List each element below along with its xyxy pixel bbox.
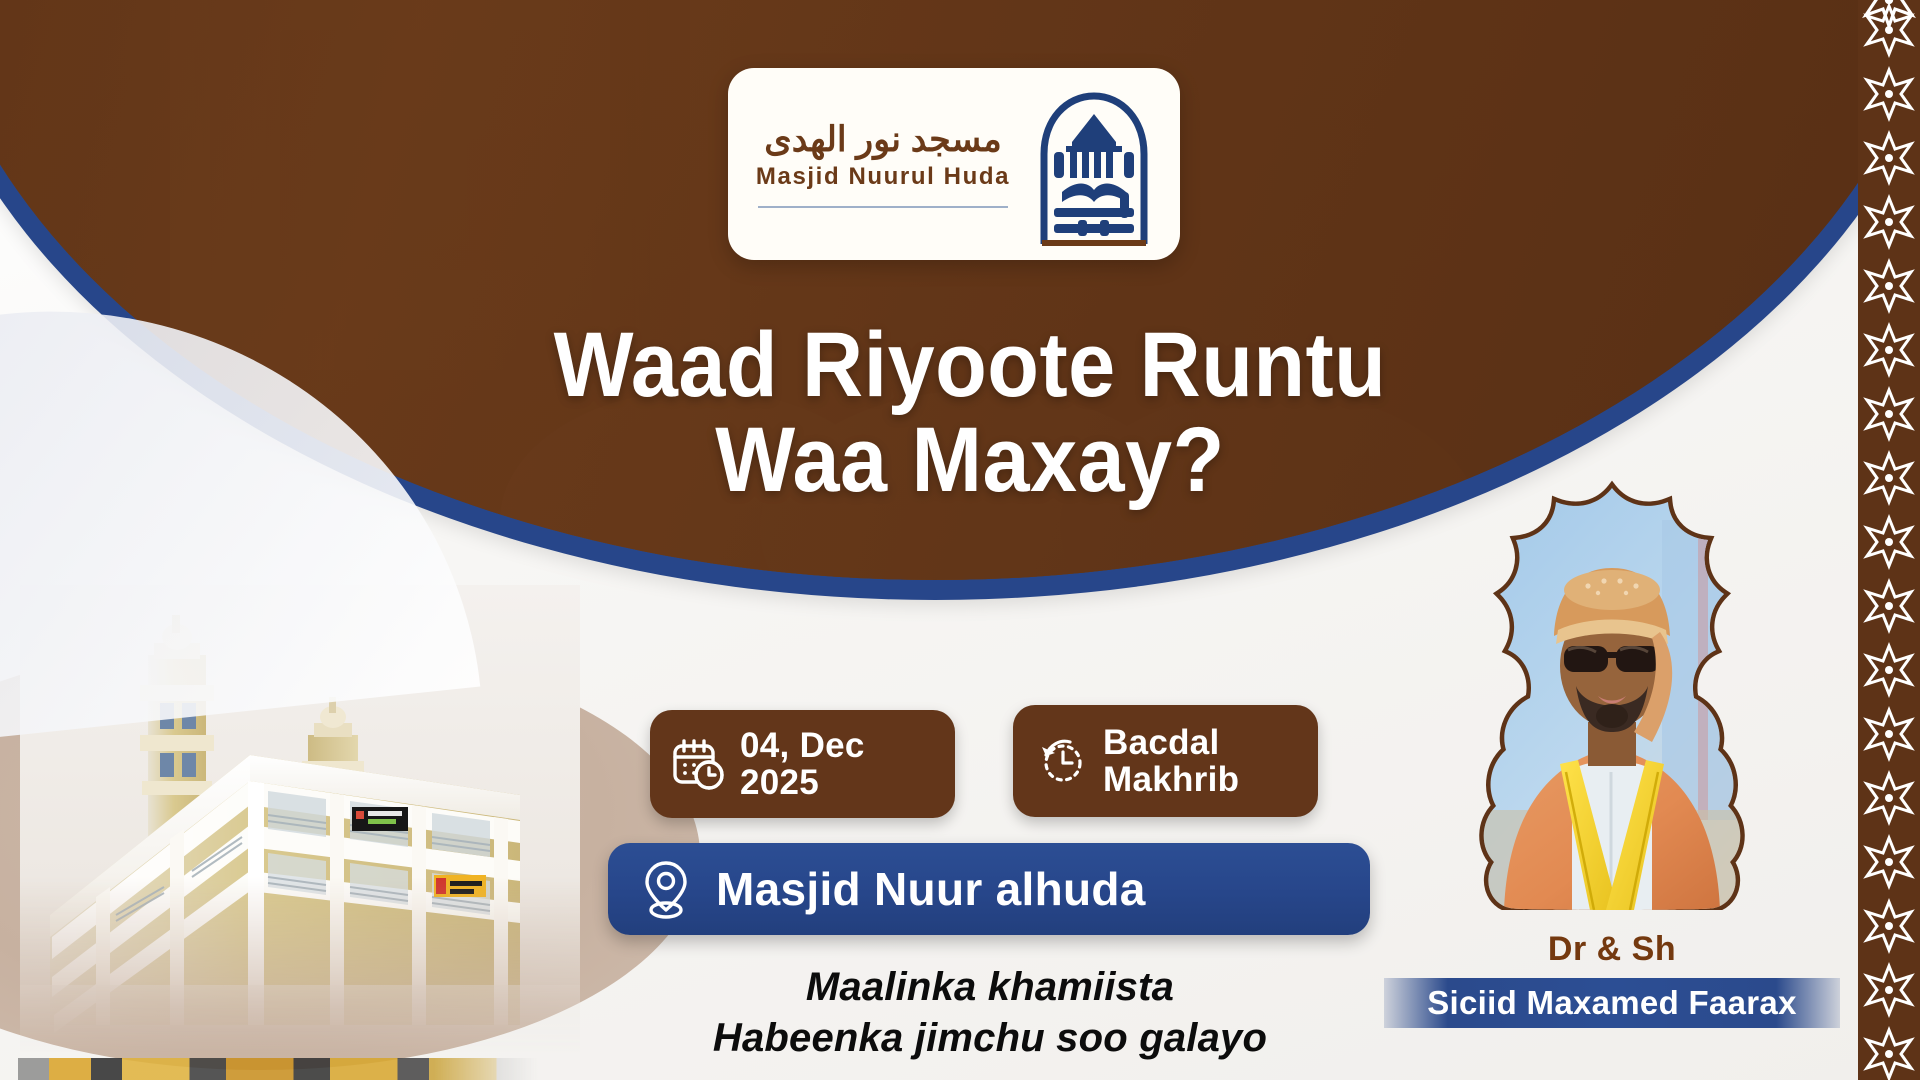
speaker-title: Dr & Sh [1412,930,1812,969]
date-line-2: 2025 [740,763,819,802]
logo-text-block: مسجد نور الهدى Masjid Nuurul Huda [748,120,1018,207]
page-title: Waad Riyoote Runtu Waa Maxay? [427,318,1513,508]
time-badge[interactable]: Bacdal Makhrib [1013,705,1318,817]
speaker-name: Siciid Maxamed Faarax [1384,978,1840,1028]
time-badge-text: Bacdal Makhrib [1103,724,1239,798]
logo-divider [758,206,1008,208]
location-bar[interactable]: Masjid Nuur alhuda [608,843,1370,935]
mosque-dome-quran-icon [1024,80,1164,248]
event-note: Maalinka khamiista Habeenka jimchu soo g… [560,962,1420,1064]
clock-arrow-icon [1033,733,1089,789]
time-line-2: Makhrib [1103,760,1239,799]
logo-arabic-name: مسجد نور الهدى [764,120,1001,160]
bottom-photo-strip [18,1058,538,1080]
time-line-1: Bacdal [1103,723,1220,762]
note-line-2: Habeenka jimchu soo galayo [560,1013,1420,1064]
calendar-clock-icon [670,736,726,792]
map-pin-icon [638,858,694,920]
location-label: Masjid Nuur alhuda [716,862,1146,916]
title-line-1: Waad Riyoote Runtu [554,314,1387,416]
note-line-1: Maalinka khamiista [560,962,1420,1013]
date-badge-text: 04, Dec 2025 [740,727,865,801]
poster-canvas: مسجد نور الهدى Masjid Nuurul Huda [0,0,1920,1080]
white-swoosh-accent [0,269,480,752]
islamic-floral-border [1858,0,1920,1080]
speaker-portrait [1412,480,1812,910]
logo-latin-name: Masjid Nuurul Huda [756,163,1010,192]
date-line-1: 04, Dec [740,726,865,765]
date-badge[interactable]: 04, Dec 2025 [650,710,955,818]
logo-card[interactable]: مسجد نور الهدى Masjid Nuurul Huda [728,68,1180,260]
title-line-2: Waa Maxay? [427,413,1513,508]
